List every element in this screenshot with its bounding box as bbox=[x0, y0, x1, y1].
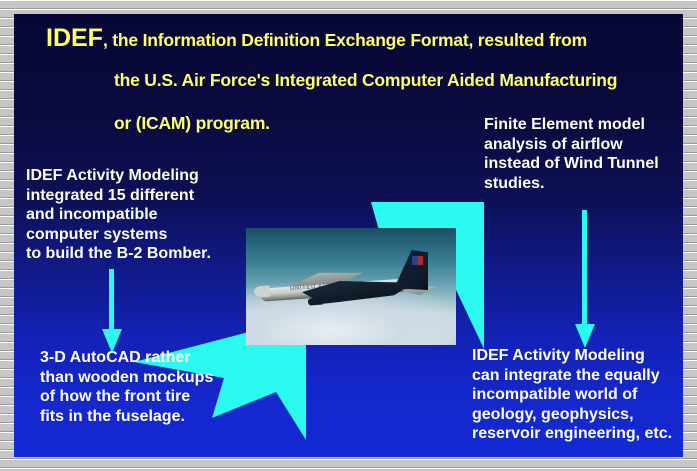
title-acronym: IDEF bbox=[46, 24, 103, 52]
slide-frame: UNITED AIRLINES IDEF, the Information De… bbox=[0, 0, 697, 471]
callout-idef-geology: IDEF Activity Modeling can integrate the… bbox=[472, 346, 672, 444]
callout-3d-autocad: 3-D AutoCAD rather than wooden mockups o… bbox=[40, 348, 213, 426]
title-line-1: IDEF, the Information Definition Exchang… bbox=[46, 24, 587, 53]
callout-finite-element-model: Finite Element model analysis of airflow… bbox=[484, 115, 659, 193]
title-line-2: the U.S. Air Force's Integrated Computer… bbox=[114, 70, 617, 91]
callout-idef-activity-modeling-b2: IDEF Activity Modeling integrated 15 dif… bbox=[26, 166, 211, 264]
slide-canvas: UNITED AIRLINES IDEF, the Information De… bbox=[14, 14, 683, 457]
text-layer: IDEF, the Information Definition Exchang… bbox=[14, 14, 683, 457]
title-line-1-rest: , the Information Definition Exchange Fo… bbox=[103, 30, 587, 50]
title-line-3: or (ICAM) program. bbox=[114, 113, 270, 134]
